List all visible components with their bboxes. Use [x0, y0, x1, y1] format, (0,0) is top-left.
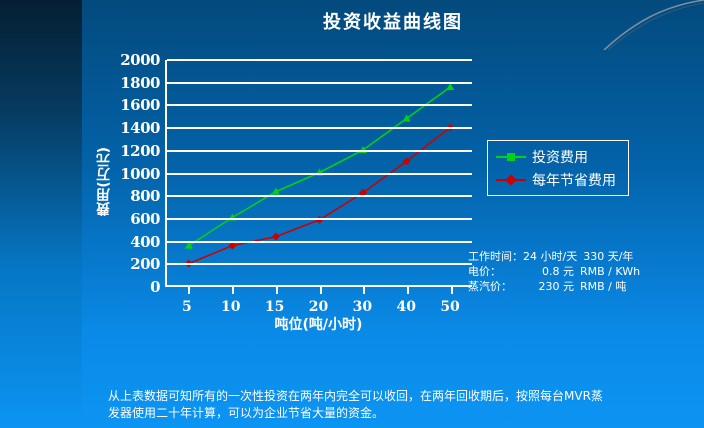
chart-legend: 投资费用每年节省费用: [487, 140, 629, 196]
legend-label: 投资费用: [532, 147, 588, 167]
parameters-notes: 工作时间：24 小时/天330 天/年电价：0.8 元RMB / KWh蒸汽价：…: [468, 249, 640, 294]
legend-item: 投资费用: [496, 146, 588, 168]
y-tick-label: 200: [100, 255, 160, 273]
gridline: [167, 173, 472, 175]
x-axis-label: 吨位(吨/小时): [165, 314, 472, 334]
x-tick-mark: [451, 287, 453, 294]
y-tick-label: 1400: [100, 119, 160, 137]
note-label: 电价：: [468, 264, 520, 279]
gridline: [167, 59, 472, 61]
note-line: 工作时间：24 小时/天330 天/年: [468, 249, 640, 264]
data-point-marker: [228, 242, 236, 250]
gridline: [167, 195, 472, 197]
y-tick-label: 1800: [100, 74, 160, 92]
gridline: [167, 241, 472, 243]
gridline: [167, 150, 472, 152]
x-tick-mark: [320, 287, 322, 294]
x-tick-mark: [363, 287, 365, 294]
x-tick-label: 50: [440, 299, 459, 315]
y-tick-label: 1000: [100, 165, 160, 183]
investment-return-chart: 费用(万元) 吨位(吨/小时) 200018001600140012001000…: [100, 52, 480, 297]
gridline: [167, 263, 472, 265]
note-value: 24 小时/天: [523, 249, 577, 264]
note-value-secondary: RMB / KWh: [574, 264, 640, 279]
data-point-marker: [446, 83, 454, 90]
legend-marker: [505, 174, 516, 185]
footer-paragraph: 从上表数据可知所有的一次性投资在两年内完全可以收回，在两年回收期后，按照每台MV…: [108, 388, 608, 422]
note-value-secondary: RMB / 吨: [574, 279, 626, 294]
y-tick-label: 2000: [100, 51, 160, 69]
note-label: 工作时间：: [468, 249, 523, 264]
x-tick-label: 20: [309, 299, 328, 315]
y-tick-label: 0: [100, 278, 160, 296]
y-tick-label: 600: [100, 210, 160, 228]
y-tick-label: 800: [100, 187, 160, 205]
y-tick-label: 1600: [100, 96, 160, 114]
x-tick-label: 10: [221, 299, 240, 315]
left-decoration-band: [0, 0, 82, 428]
y-tick-label: 1200: [100, 142, 160, 160]
x-tick-mark: [232, 287, 234, 294]
x-tick-label: 40: [396, 299, 415, 315]
note-line: 蒸汽价：230 元RMB / 吨: [468, 279, 640, 294]
x-tick-label: 5: [182, 299, 192, 315]
plot-area: [165, 60, 472, 287]
gridline: [167, 104, 472, 106]
x-tick-label: 15: [265, 299, 284, 315]
x-tick-mark: [188, 287, 190, 294]
legend-marker: [507, 153, 515, 161]
note-value: 230 元: [520, 279, 574, 294]
x-tick-mark: [276, 287, 278, 294]
y-tick-label: 400: [100, 233, 160, 251]
legend-swatch: [496, 151, 526, 163]
gridline: [167, 127, 472, 129]
x-tick-label: 30: [353, 299, 372, 315]
note-value: 0.8 元: [520, 264, 574, 279]
data-point-marker: [272, 233, 280, 241]
legend-item: 每年节省费用: [496, 169, 616, 191]
page-title: 投资收益曲线图: [82, 8, 704, 34]
gridline: [167, 82, 472, 84]
legend-label: 每年节省费用: [532, 170, 616, 190]
slide-canvas: 投资收益曲线图 费用(万元) 吨位(吨/小时) 2000180016001400…: [0, 0, 704, 428]
legend-swatch: [496, 174, 526, 186]
gridline: [167, 218, 472, 220]
note-value-secondary: 330 天/年: [577, 249, 633, 264]
note-label: 蒸汽价：: [468, 279, 520, 294]
x-tick-mark: [407, 287, 409, 294]
note-line: 电价：0.8 元RMB / KWh: [468, 264, 640, 279]
data-point-marker: [185, 242, 193, 249]
